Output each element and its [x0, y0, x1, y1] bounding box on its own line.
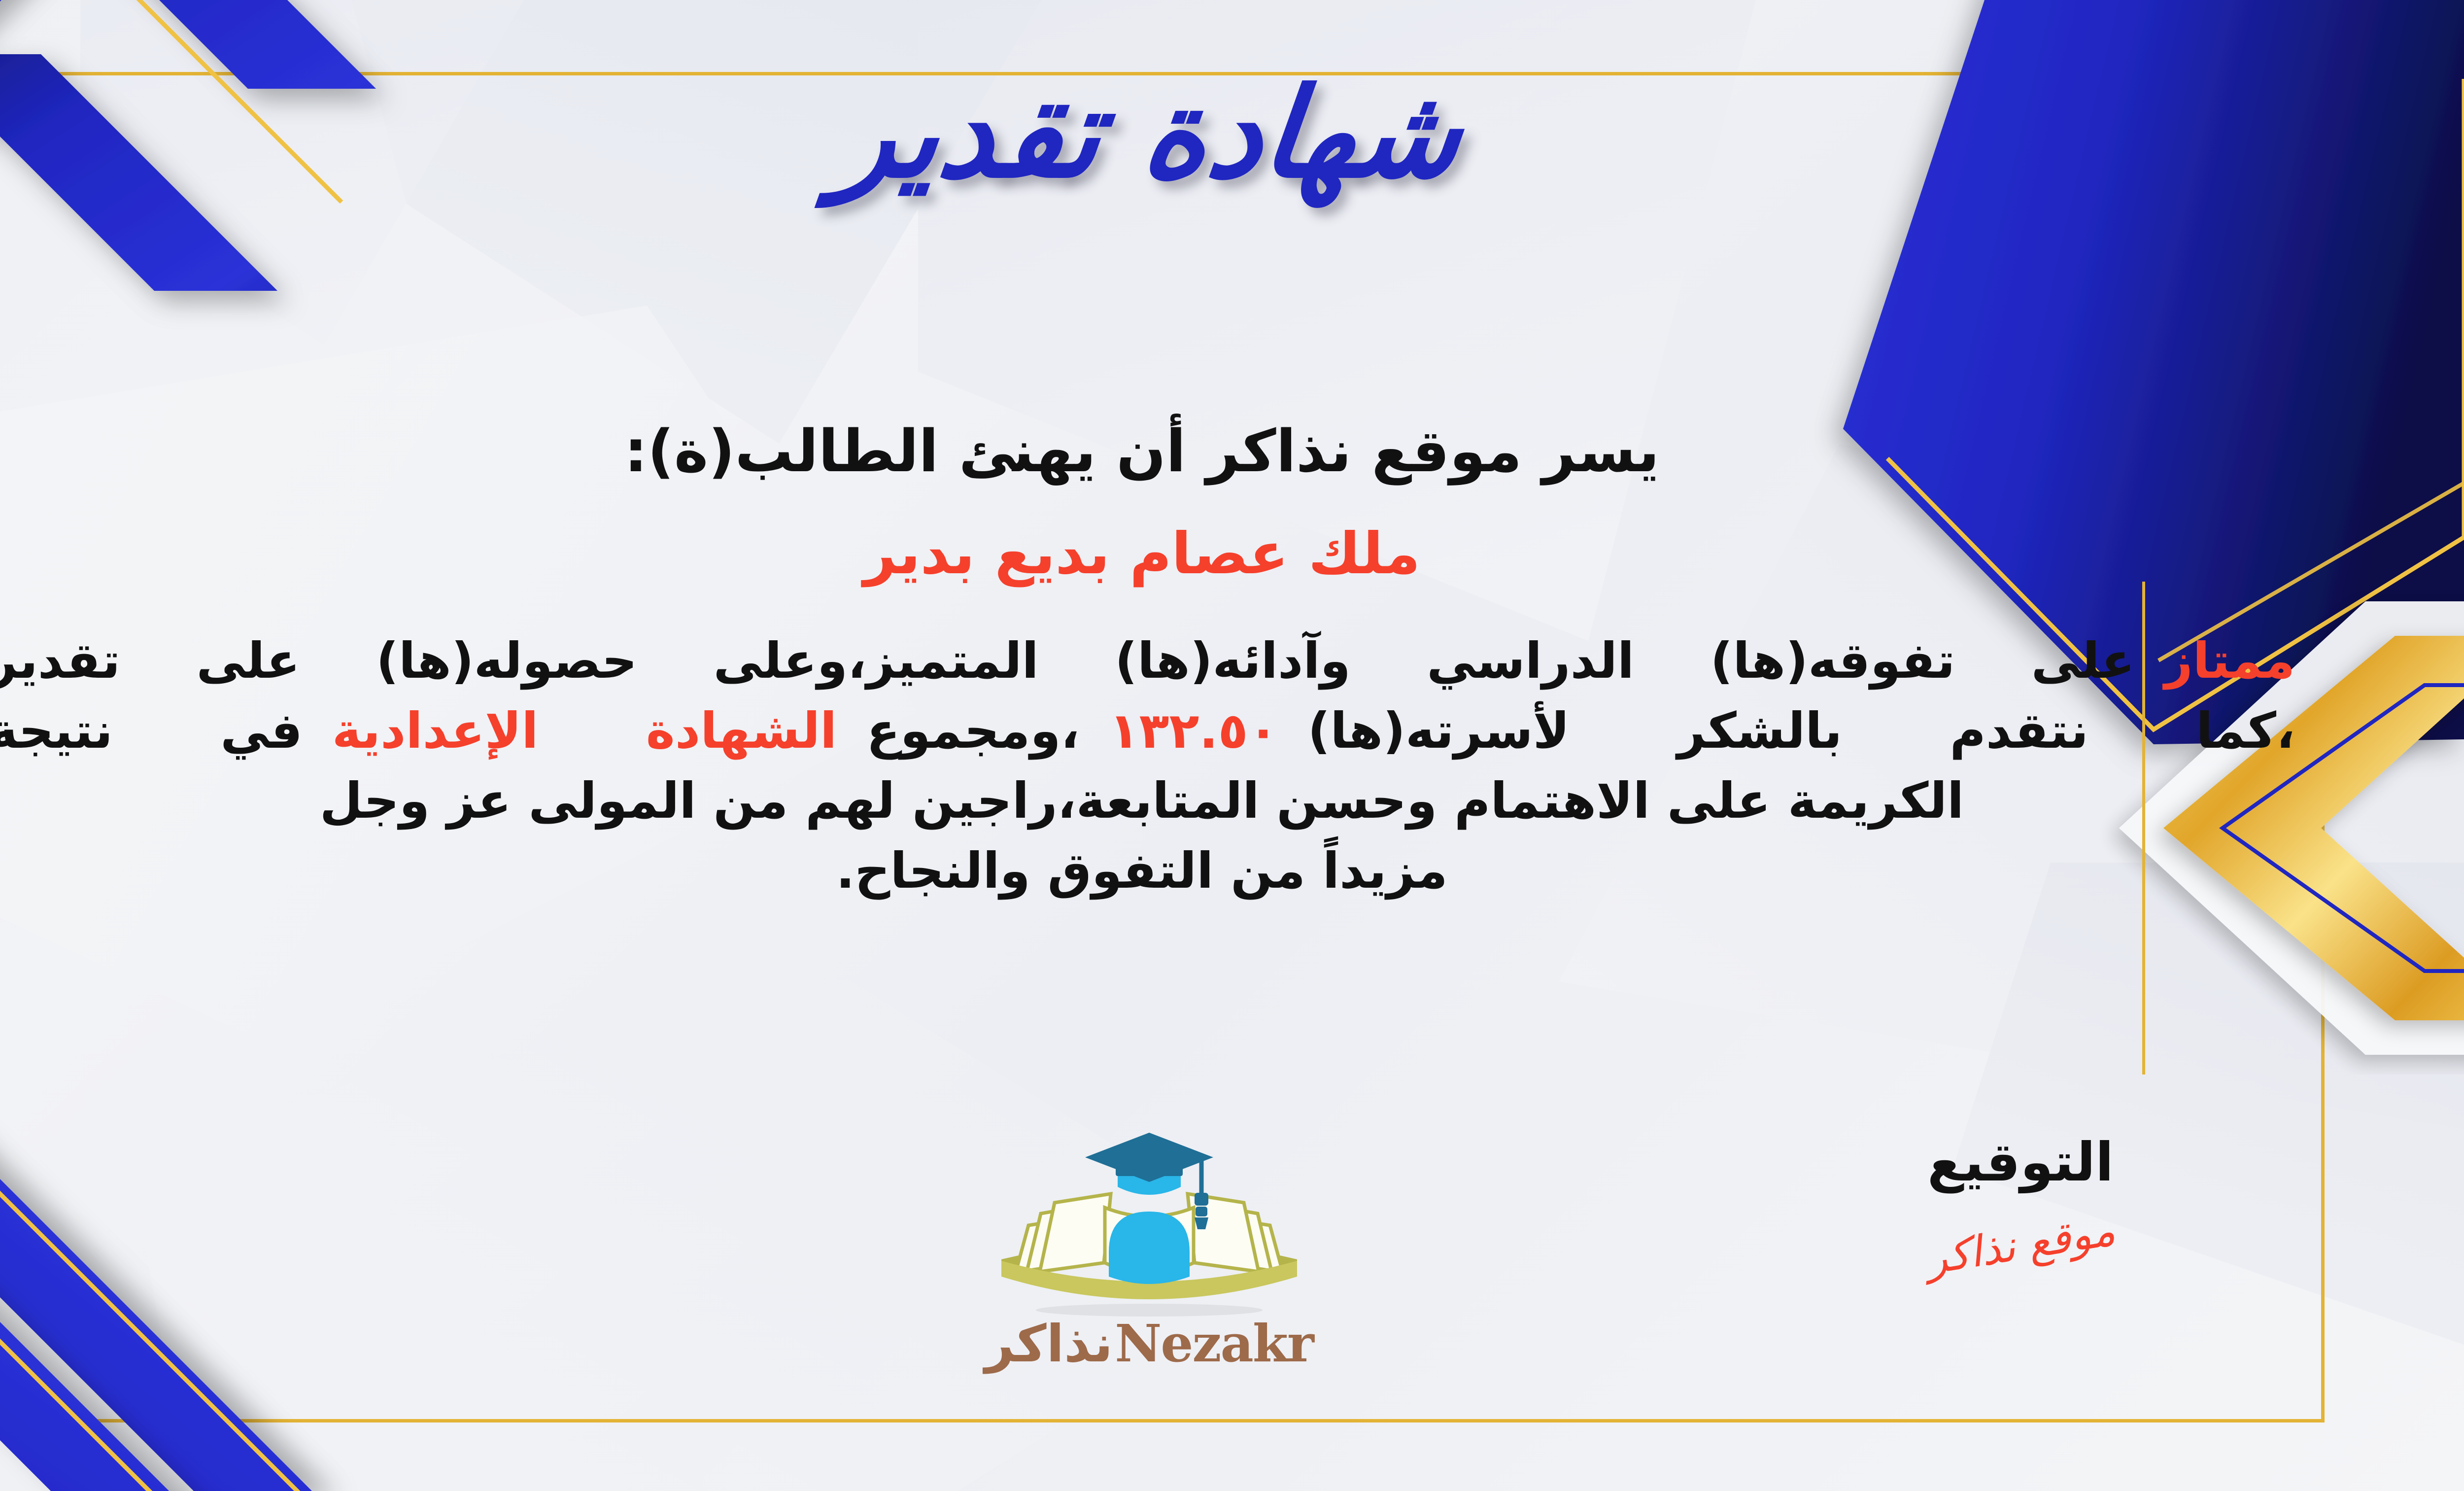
certificate-body: يسر موقع نذاكر أن يهنئ الطالب(ة): ملك عص…	[0, 409, 2325, 906]
paragraph-line-2-tail: ،كما نتقدم بالشكر لأسرته(ها)	[1308, 702, 2295, 760]
certificate-title: شهادة تقدير	[0, 57, 2464, 211]
paragraph-line-1: ممتازعلى تفوقه(ها) الدراسي وآدائه(ها) ال…	[0, 626, 2295, 696]
paragraph-line-1-text: على تفوقه(ها) الدراسي وآدائه(ها) المتميز…	[0, 632, 2135, 690]
paragraph-line-4: مزيداً من التفوق والنجاح.	[0, 836, 2295, 906]
grade-value: ممتاز	[2164, 632, 2295, 690]
total-score-value: ١٣٢.٥٠	[1109, 702, 1278, 760]
congratulation-lead-text: يسر موقع نذاكر أن يهنئ الطالب(ة):	[0, 409, 2325, 493]
logo-wordmark-arabic: نذاكر	[985, 1314, 1113, 1374]
certificate-paragraph: ممتازعلى تفوقه(ها) الدراسي وآدائه(ها) ال…	[0, 626, 2325, 906]
student-name: ملك عصام بديع بدير	[0, 517, 2325, 591]
certificate-stage-value: الشهادة الإعدادية	[332, 702, 837, 760]
paragraph-line-2: ،كما نتقدم بالشكر لأسرته(ها)١٣٢.٥٠،ومجمو…	[0, 696, 2295, 766]
paragraph-line-2-mid: ،ومجموع	[866, 702, 1079, 760]
certificate-canvas: شهادة تقدير يسر موقع نذاكر أن يهنئ الطال…	[0, 0, 2464, 1491]
logo-wordmark-latin: Nezakr	[1115, 1313, 1313, 1374]
paragraph-line-3: الكريمة على الاهتمام وحسن المتابعة،راجين…	[0, 766, 2295, 836]
paragraph-line-2-head: في نتيجة	[0, 702, 303, 760]
graduate-on-open-book-logo-icon	[982, 1129, 1317, 1326]
site-logo-wordmark: Nezakr نذاكر	[985, 1313, 1313, 1374]
site-logo-block: Nezakr نذاكر	[0, 1129, 2464, 1374]
